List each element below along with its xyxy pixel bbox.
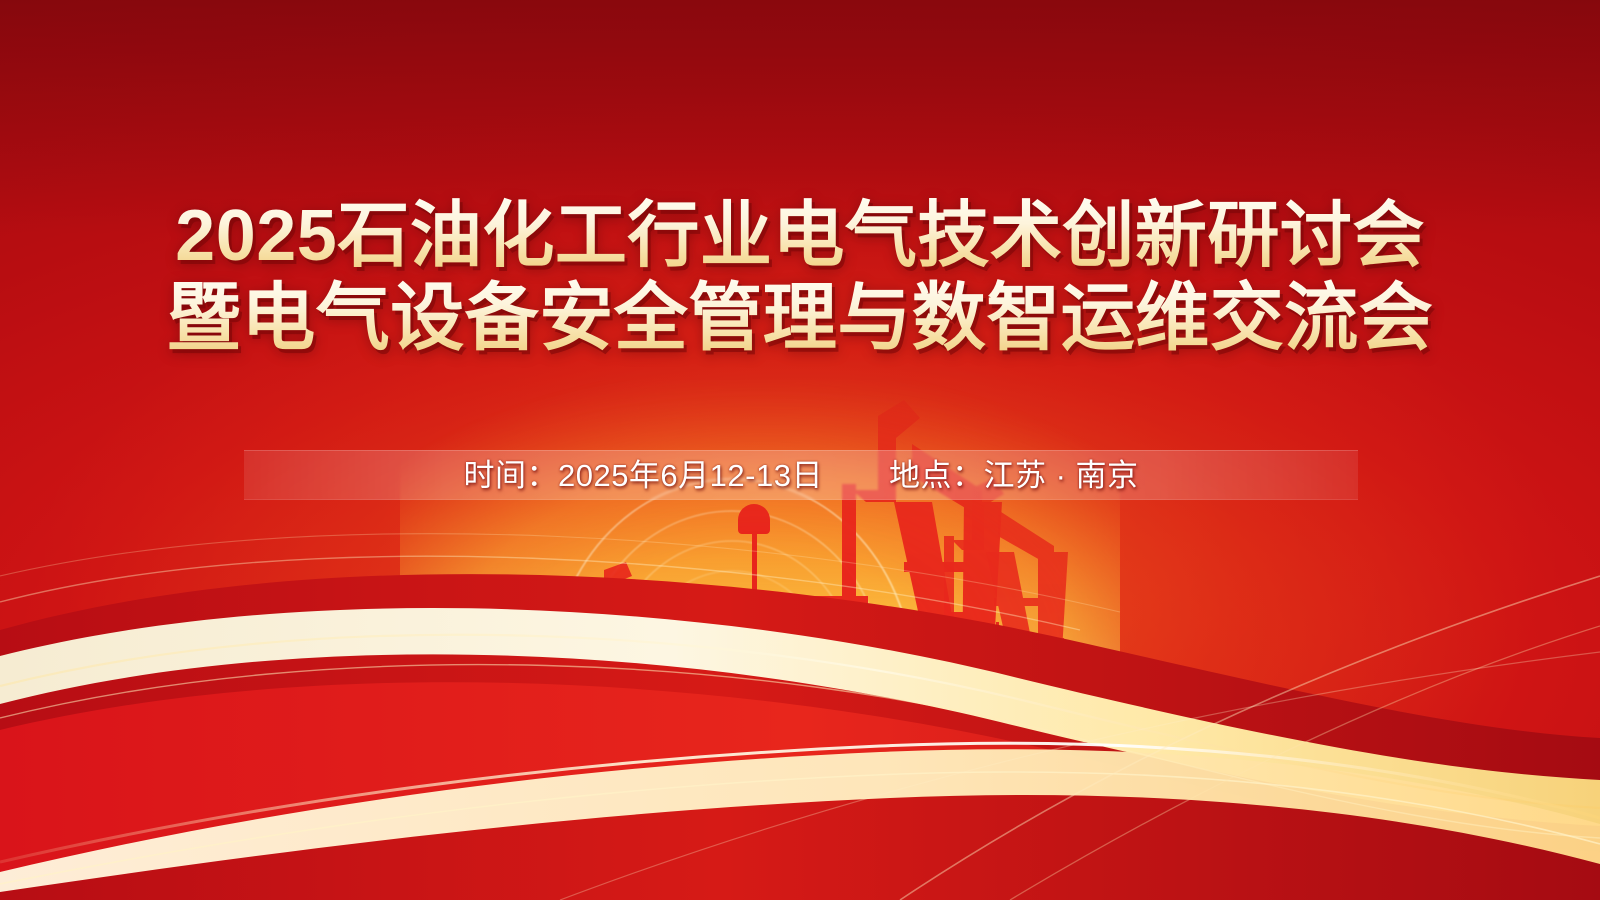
event-date: 时间：2025年6月12-13日 (463, 460, 823, 491)
event-info-bar: 时间：2025年6月12-13日 地点：江苏 · 南京 (244, 450, 1358, 500)
conference-banner: 2025石油化工行业电气技术创新研讨会 暨电气设备安全管理与数智运维交流会 时间… (0, 0, 1600, 900)
event-venue: 地点：江苏 · 南京 (889, 460, 1139, 491)
flowing-ribbon-waves (0, 480, 1600, 900)
